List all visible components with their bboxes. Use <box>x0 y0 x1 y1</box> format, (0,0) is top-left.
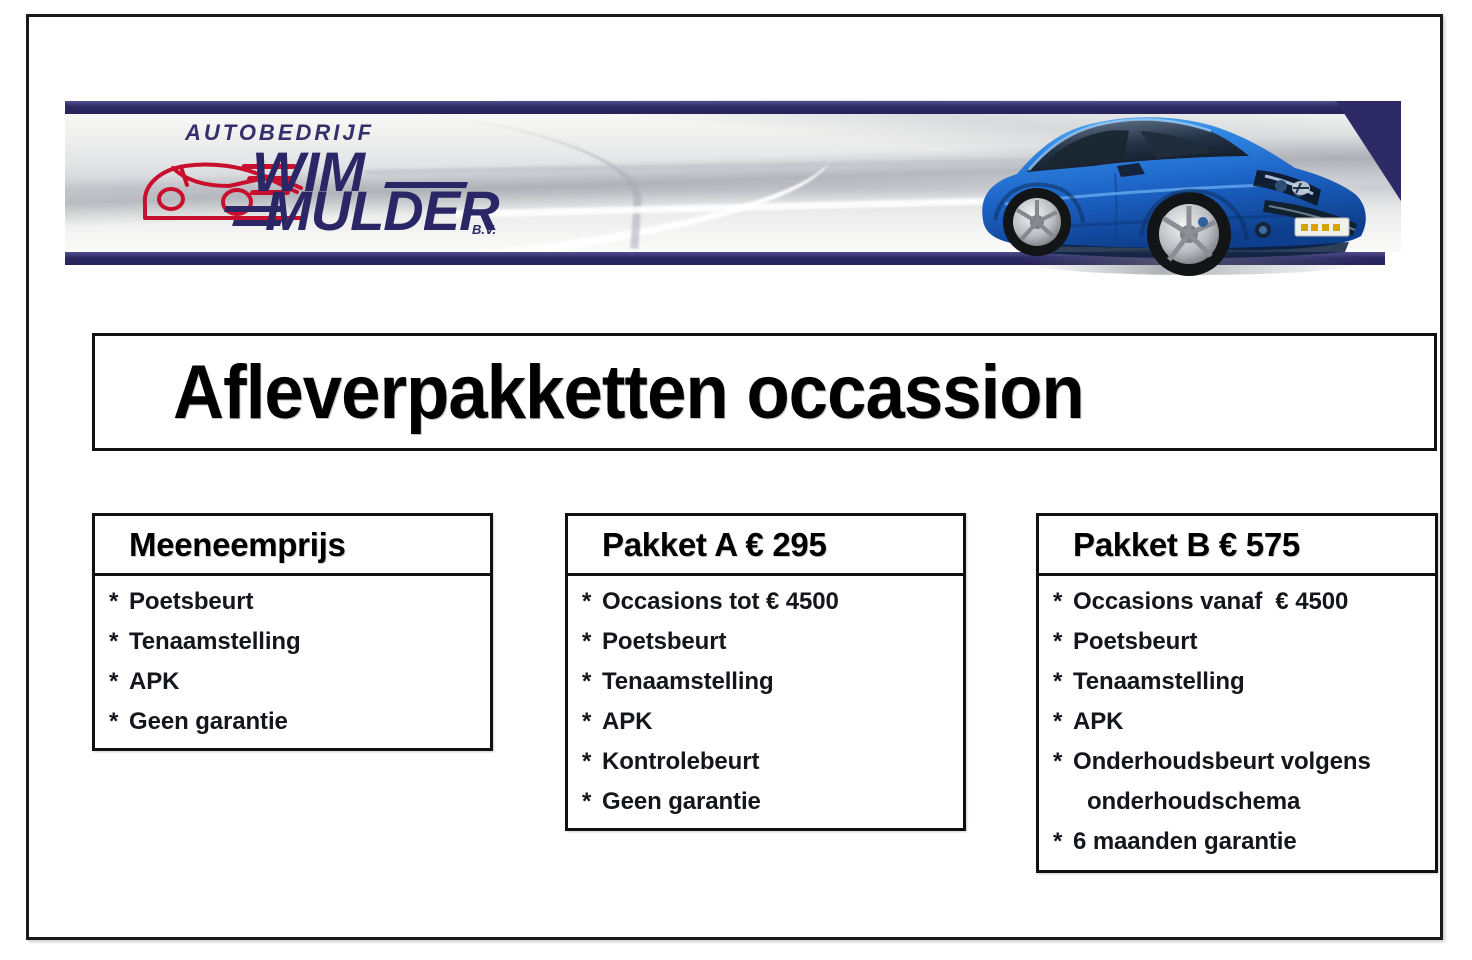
package-title: Pakket A € 295 <box>602 526 827 564</box>
bullet-asterisk-icon: * <box>1053 630 1073 654</box>
package-box-meeneemprijs: Meeneemprijs *Poetsbeurt*Tenaamstelling*… <box>92 513 493 751</box>
package-feature-text: Onderhoudsbeurt volgens <box>1073 748 1371 775</box>
package-header: Pakket A € 295 <box>568 516 963 576</box>
bullet-asterisk-icon: * <box>582 590 602 614</box>
package-feature-text: Occasions vanaf € 4500 <box>1073 588 1348 615</box>
bullet-asterisk-icon: * <box>1053 750 1073 774</box>
package-feature-item: *APK <box>568 710 963 734</box>
package-feature-item: *Occasions tot € 4500 <box>568 590 963 614</box>
package-feature-item: *APK <box>1039 710 1435 734</box>
package-feature-item: *Tenaamstelling <box>1039 670 1435 694</box>
bullet-asterisk-icon: * <box>109 630 129 654</box>
bullet-asterisk-icon: * <box>109 670 129 694</box>
package-feature-item: onderhoudschema <box>1039 790 1435 814</box>
package-header: Meeneemprijs <box>95 516 490 576</box>
package-feature-item: *APK <box>95 670 490 694</box>
package-feature-text: Poetsbeurt <box>1073 628 1197 655</box>
bullet-asterisk-icon: * <box>1053 670 1073 694</box>
package-feature-item: *Poetsbeurt <box>95 590 490 614</box>
company-logo: AUTOBEDRIJF WIM <box>137 120 537 242</box>
package-feature-text: Poetsbeurt <box>129 588 253 615</box>
page-title-box: Afleverpakketten occassion <box>92 333 1437 451</box>
bullet-asterisk-icon: * <box>582 710 602 734</box>
package-feature-item: *Poetsbeurt <box>568 630 963 654</box>
blue-car-photo <box>965 96 1395 278</box>
package-feature-item: *Tenaamstelling <box>568 670 963 694</box>
package-feature-item: *Poetsbeurt <box>1039 630 1435 654</box>
logo-speed-streak-2 <box>224 206 286 212</box>
package-feature-text: Tenaamstelling <box>1073 668 1245 695</box>
package-box-pakket-a: Pakket A € 295 *Occasions tot € 4500*Poe… <box>565 513 966 831</box>
logo-name-line-2: MULDER <box>265 183 499 239</box>
package-feature-text: Occasions tot € 4500 <box>602 588 839 615</box>
package-feature-text: Kontrolebeurt <box>602 748 759 775</box>
bullet-asterisk-icon: * <box>109 590 129 614</box>
package-feature-item: *Tenaamstelling <box>95 630 490 654</box>
package-title: Meeneemprijs <box>129 526 346 564</box>
package-feature-text: Tenaamstelling <box>129 628 301 655</box>
bullet-asterisk-icon: * <box>582 630 602 654</box>
package-feature-text: Poetsbeurt <box>602 628 726 655</box>
package-feature-text: 6 maanden garantie <box>1073 828 1297 855</box>
bullet-asterisk-icon: * <box>1053 590 1073 614</box>
package-title: Pakket B € 575 <box>1073 526 1300 564</box>
package-feature-list: *Poetsbeurt*Tenaamstelling*APK*Geen gara… <box>95 576 490 734</box>
bullet-asterisk-icon: * <box>1053 830 1073 854</box>
bullet-asterisk-icon: * <box>582 790 602 814</box>
logo-suffix: B.V. <box>472 222 496 237</box>
package-feature-text: APK <box>129 668 179 695</box>
package-header: Pakket B € 575 <box>1039 516 1435 576</box>
package-feature-list: *Occasions tot € 4500*Poetsbeurt*Tenaams… <box>568 576 963 814</box>
package-feature-text: Geen garantie <box>129 708 288 735</box>
package-feature-item: *Geen garantie <box>568 790 963 814</box>
package-feature-item: *Geen garantie <box>95 710 490 734</box>
package-feature-text: Tenaamstelling <box>602 668 774 695</box>
bullet-asterisk-icon: * <box>582 670 602 694</box>
document-page: AUTOBEDRIJF WIM <box>26 14 1443 940</box>
bullet-asterisk-icon: * <box>582 750 602 774</box>
package-feature-item: *Kontrolebeurt <box>568 750 963 774</box>
package-feature-text: APK <box>602 708 652 735</box>
package-feature-item: *Onderhoudsbeurt volgens <box>1039 750 1435 774</box>
package-feature-item: *Occasions vanaf € 4500 <box>1039 590 1435 614</box>
package-feature-list: *Occasions vanaf € 4500*Poetsbeurt*Tenaa… <box>1039 576 1435 854</box>
package-box-pakket-b: Pakket B € 575 *Occasions vanaf € 4500*P… <box>1036 513 1438 873</box>
company-banner: AUTOBEDRIJF WIM <box>65 88 1401 278</box>
package-feature-item: *6 maanden garantie <box>1039 830 1435 854</box>
logo-speed-streak-3 <box>232 220 282 226</box>
page-title: Afleverpakketten occassion <box>173 349 1084 436</box>
package-feature-text: Geen garantie <box>602 788 761 815</box>
bullet-asterisk-icon: * <box>1053 710 1073 734</box>
package-feature-text: onderhoudschema <box>1087 788 1300 815</box>
bullet-asterisk-icon: * <box>109 710 129 734</box>
package-feature-text: APK <box>1073 708 1123 735</box>
